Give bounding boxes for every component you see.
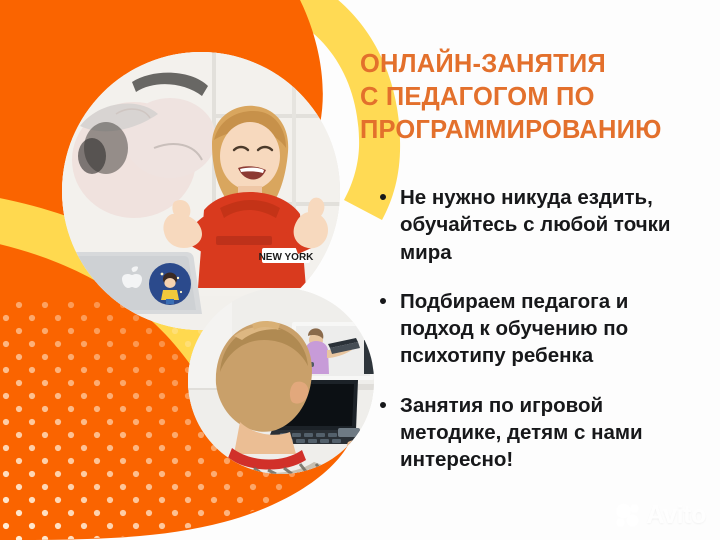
list-item-label: Занятия по игровой методике, детям с нам… [400,394,643,472]
photo-boy-illustration [188,288,374,474]
benefits-list: Не нужно никуда ездить, обучайтесь с люб… [378,184,678,473]
avito-dots-logo-icon [615,502,641,528]
list-item: Занятия по игровой методике, детям с нам… [378,392,678,474]
promo-banner: 3 NEW YORK [0,0,720,540]
bullet-dot-icon [380,402,386,408]
photo-girl-with-laptop: 3 NEW YORK [62,52,340,330]
bullet-dot-icon [380,298,386,304]
list-item: Подбираем педагога и подход к обучению п… [378,288,678,370]
bullet-dot-icon [380,194,386,200]
list-item: Не нужно никуда ездить, обучайтесь с люб… [378,184,678,266]
headline-block: ОНЛАЙН-ЗАНЯТИЯ С ПЕДАГОГОМ ПО ПРОГРАММИР… [360,48,700,147]
svg-text:NEW YORK: NEW YORK [259,252,315,263]
page-title: ОНЛАЙН-ЗАНЯТИЯ С ПЕДАГОГОМ ПО ПРОГРАММИР… [360,48,700,147]
list-item-label: Не нужно никуда ездить, обучайтесь с люб… [400,186,670,264]
photo-boy-at-laptop [188,288,374,474]
photo-girl-illustration: 3 NEW YORK [62,52,340,330]
avito-watermark: Avito [615,502,706,528]
avito-wordmark: Avito [646,503,706,528]
list-item-label: Подбираем педагога и подход к обучению п… [400,290,628,368]
